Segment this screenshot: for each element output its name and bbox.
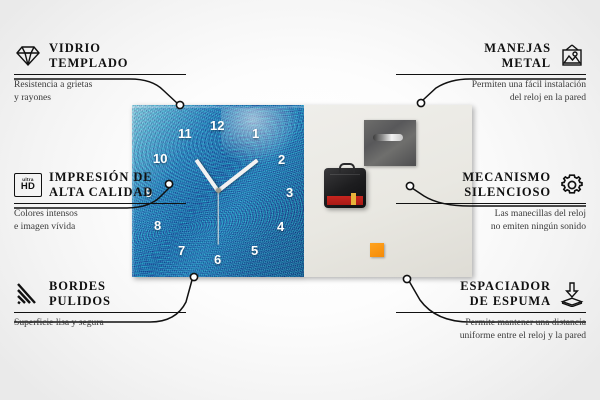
picture-frame-icon bbox=[558, 42, 586, 70]
foam-spacer bbox=[370, 243, 384, 257]
feature-desc-line2: y rayones bbox=[14, 92, 204, 105]
feature-rule bbox=[396, 203, 586, 204]
movement-seam bbox=[330, 174, 360, 175]
gear-icon bbox=[558, 171, 586, 199]
feature-heading-row: ESPACIADOR DE ESPUMA bbox=[396, 279, 586, 309]
clock-numeral-1: 1 bbox=[252, 127, 259, 140]
feature-impresion-alta-calidad[interactable]: ultra HD IMPRESIÓN DE ALTA CALIDAD Color… bbox=[14, 170, 204, 233]
hanger-slot bbox=[373, 134, 403, 141]
ultra-hd-icon: ultra HD bbox=[14, 171, 42, 199]
feature-vidrio-templado[interactable]: VIDRIO TEMPLADO Resistencia a grietas y … bbox=[14, 41, 204, 104]
feature-description: Las manecillas del reloj no emiten ningú… bbox=[396, 208, 586, 233]
feature-description: Permiten una fácil instalación del reloj… bbox=[396, 79, 586, 104]
feature-desc-line2: e imagen vívida bbox=[14, 221, 204, 234]
infographic-canvas: 12 1 2 3 4 5 6 7 8 9 10 11 bbox=[0, 0, 600, 400]
feature-title: MECANISMO SILENCIOSO bbox=[462, 170, 551, 200]
feature-title-line1: MECANISMO bbox=[462, 170, 551, 185]
feature-description: Permite mantener una distancia uniforme … bbox=[396, 317, 586, 342]
feature-heading-row: MANEJAS METAL bbox=[396, 41, 586, 71]
feature-title: BORDES PULIDOS bbox=[49, 279, 111, 309]
feature-desc-line1: Las manecillas del reloj bbox=[396, 208, 586, 221]
feature-desc-line1: Permiten una fácil instalación bbox=[396, 79, 586, 92]
feature-title-line1: ESPACIADOR bbox=[460, 279, 551, 294]
feature-rule bbox=[396, 74, 586, 75]
feature-bordes-pulidos[interactable]: BORDES PULIDOS Superficie lisa y segura bbox=[14, 279, 204, 330]
clock-second-hand bbox=[217, 191, 218, 245]
feature-title-line2: PULIDOS bbox=[49, 294, 111, 309]
clock-numeral-3: 3 bbox=[286, 186, 293, 199]
feature-title-line2: METAL bbox=[484, 56, 551, 71]
feature-title-line2: TEMPLADO bbox=[49, 56, 128, 71]
feature-title: VIDRIO TEMPLADO bbox=[49, 41, 128, 71]
hd-badge-large: HD bbox=[21, 182, 35, 192]
clock-numeral-4: 4 bbox=[277, 220, 284, 233]
feature-desc-line2: del reloj en la pared bbox=[396, 92, 586, 105]
feature-rule bbox=[14, 74, 186, 75]
feature-description: Resistencia a grietas y rayones bbox=[14, 79, 204, 104]
feature-desc-line1: Resistencia a grietas bbox=[14, 79, 204, 92]
clock-numeral-5: 5 bbox=[251, 244, 258, 257]
feature-rule bbox=[14, 312, 186, 313]
clock-numeral-12: 12 bbox=[210, 119, 224, 132]
clock-numeral-11: 11 bbox=[178, 127, 192, 140]
feature-description: Superficie lisa y segura bbox=[14, 317, 204, 330]
feature-description: Colores intensos e imagen vívida bbox=[14, 208, 204, 233]
feature-desc-line1: Superficie lisa y segura bbox=[14, 317, 204, 330]
feature-desc-line2: no emiten ningún sonido bbox=[396, 221, 586, 234]
feature-desc-line1: Permite mantener una distancia bbox=[396, 317, 586, 330]
feature-title-line1: BORDES bbox=[49, 279, 111, 294]
feature-title-line1: IMPRESIÓN DE bbox=[49, 170, 153, 185]
feature-mecanismo-silencioso[interactable]: MECANISMO SILENCIOSO Las manecillas del … bbox=[396, 170, 586, 233]
diamond-icon bbox=[14, 42, 42, 70]
clock-numeral-2: 2 bbox=[278, 153, 285, 166]
foam-spacer-icon bbox=[558, 280, 586, 308]
feature-rule bbox=[14, 203, 186, 204]
clock-face-highlight bbox=[221, 108, 300, 166]
feature-title-line2: DE ESPUMA bbox=[460, 294, 551, 309]
feature-title: ESPACIADOR DE ESPUMA bbox=[460, 279, 551, 309]
feature-manejas-metal[interactable]: MANEJAS METAL Permiten una fácil instala… bbox=[396, 41, 586, 104]
feature-title-line2: ALTA CALIDAD bbox=[49, 185, 153, 200]
feature-title: IMPRESIÓN DE ALTA CALIDAD bbox=[49, 170, 153, 200]
feature-desc-line1: Colores intensos bbox=[14, 208, 204, 221]
feature-desc-line2: uniforme entre el reloj y la pared bbox=[396, 330, 586, 343]
feature-title: MANEJAS METAL bbox=[484, 41, 551, 71]
feature-heading-row: BORDES PULIDOS bbox=[14, 279, 204, 309]
movement-label bbox=[327, 196, 363, 205]
feature-rule bbox=[396, 312, 586, 313]
polished-edge-icon bbox=[14, 280, 42, 308]
clock-numeral-6: 6 bbox=[214, 253, 221, 266]
clock-center-pin bbox=[216, 188, 221, 193]
clock-numeral-10: 10 bbox=[153, 152, 167, 165]
clock-movement bbox=[324, 168, 366, 208]
movement-shaft bbox=[339, 163, 355, 173]
feature-title-line1: VIDRIO bbox=[49, 41, 128, 56]
feature-title-line2: SILENCIOSO bbox=[462, 185, 551, 200]
feature-title-line1: MANEJAS bbox=[484, 41, 551, 56]
clock-numeral-7: 7 bbox=[178, 244, 185, 257]
feature-heading-row: MECANISMO SILENCIOSO bbox=[396, 170, 586, 200]
feature-espaciador-espuma[interactable]: ESPACIADOR DE ESPUMA Permite mantener un… bbox=[396, 279, 586, 342]
metal-hanger-plate bbox=[364, 120, 416, 166]
feature-heading-row: VIDRIO TEMPLADO bbox=[14, 41, 204, 71]
feature-heading-row: ultra HD IMPRESIÓN DE ALTA CALIDAD bbox=[14, 170, 204, 200]
